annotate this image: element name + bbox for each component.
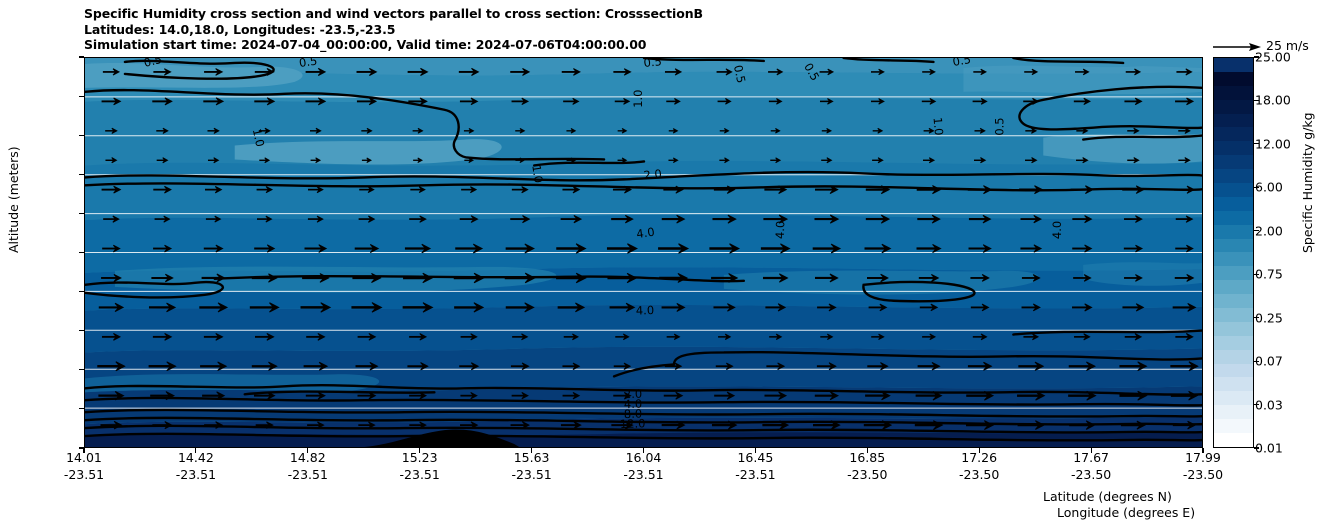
x-axis-tick: 14.01-23.51 bbox=[24, 449, 144, 483]
x-axis-tick-mark bbox=[755, 448, 756, 453]
colorbar-segment bbox=[1214, 183, 1253, 197]
colorbar-segment bbox=[1214, 211, 1253, 225]
colorbar-tick-mark bbox=[1254, 447, 1259, 448]
colorbar-segment bbox=[1214, 266, 1253, 280]
x-axis-tick: 16.45-23.51 bbox=[695, 449, 815, 483]
contour-label: 1.0 bbox=[930, 117, 946, 136]
x-axis-tick: 15.63-23.51 bbox=[472, 449, 592, 483]
y-axis-tick-mark bbox=[79, 56, 84, 57]
colorbar-tick-mark bbox=[1254, 187, 1259, 188]
colorbar-tick-label: 12.00 bbox=[1255, 136, 1291, 151]
x-axis-label-longitude: Longitude (degrees E) bbox=[1057, 505, 1195, 520]
y-axis-tick-mark bbox=[79, 369, 84, 370]
y-axis-label: Altitude (meters) bbox=[6, 146, 21, 253]
colorbar-segment bbox=[1214, 350, 1253, 364]
colorbar-segment bbox=[1214, 86, 1253, 100]
colorbar-segment bbox=[1214, 391, 1253, 405]
colorbar-tick-label: 6.00 bbox=[1255, 180, 1283, 195]
colorbar-segment bbox=[1214, 364, 1253, 378]
x-axis-tick-longitude: -23.50 bbox=[1143, 466, 1263, 483]
x-axis-tick-mark bbox=[979, 448, 980, 453]
figure-title: Specific Humidity cross section and wind… bbox=[84, 6, 1204, 53]
x-axis-tick-mark bbox=[531, 448, 532, 453]
colorbar-tick-label: 0.75 bbox=[1255, 267, 1283, 282]
colorbar-label: Specific Humidity g/kg bbox=[1300, 112, 1315, 253]
contour-label: 4.0 bbox=[636, 303, 655, 318]
x-axis-tick-longitude: -23.51 bbox=[360, 466, 480, 483]
x-axis-tick-longitude: -23.51 bbox=[136, 466, 256, 483]
colorbar-segment bbox=[1214, 294, 1253, 308]
colorbar-segment bbox=[1214, 72, 1253, 86]
x-axis-tick: 16.85-23.50 bbox=[807, 449, 927, 483]
x-axis-tick-longitude: -23.51 bbox=[472, 466, 592, 483]
contour-label: 0.5 bbox=[992, 117, 1006, 135]
x-axis-tick-longitude: -23.51 bbox=[695, 466, 815, 483]
x-axis-label-latitude: Latitude (degrees N) bbox=[1043, 489, 1172, 504]
colorbar-tick-mark bbox=[1254, 56, 1259, 57]
x-axis-tick-mark bbox=[419, 448, 420, 453]
x-axis-tick-longitude: -23.51 bbox=[248, 466, 368, 483]
x-axis-tick: 14.42-23.51 bbox=[136, 449, 256, 483]
colorbar-segment bbox=[1214, 239, 1253, 253]
colorbar-segment bbox=[1214, 169, 1253, 183]
y-axis-tick-mark bbox=[79, 291, 84, 292]
colorbar-segment bbox=[1214, 336, 1253, 350]
colorbar-tick-mark bbox=[1254, 317, 1259, 318]
contour-label: 4.0 bbox=[773, 221, 788, 240]
colorbar-tick-mark bbox=[1254, 361, 1259, 362]
y-axis-tick-mark bbox=[79, 408, 84, 409]
x-axis-tick: 16.04-23.51 bbox=[584, 449, 704, 483]
colorbar-tick-label: 0.07 bbox=[1255, 354, 1283, 369]
x-axis-tick: 17.26-23.50 bbox=[919, 449, 1039, 483]
colorbar-segment bbox=[1214, 141, 1253, 155]
x-axis-tick: 14.82-23.51 bbox=[248, 449, 368, 483]
colorbar-tick-label: 0.03 bbox=[1255, 397, 1283, 412]
colorbar-segment bbox=[1214, 58, 1253, 72]
colorbar-segment bbox=[1214, 377, 1253, 391]
contour-label: 4.0 bbox=[1050, 221, 1064, 239]
colorbar-tick-label: 2.00 bbox=[1255, 223, 1283, 238]
contour-label: 0.5 bbox=[643, 58, 663, 70]
contour-label: 2.0 bbox=[643, 167, 663, 183]
colorbar-segment bbox=[1214, 308, 1253, 322]
colorbar-tick-label: 18.00 bbox=[1255, 93, 1291, 108]
colorbar-tick-mark bbox=[1254, 230, 1259, 231]
colorbar-segment bbox=[1214, 405, 1253, 419]
colorbar-segment bbox=[1214, 419, 1253, 433]
x-axis-tick-mark bbox=[83, 448, 84, 453]
colorbar-tick-label: 25.00 bbox=[1255, 50, 1291, 65]
x-axis-tick-mark bbox=[1202, 448, 1203, 453]
colorbar-tick-mark bbox=[1254, 404, 1259, 405]
x-axis-tick-longitude: -23.51 bbox=[24, 466, 144, 483]
colorbar-segment bbox=[1214, 197, 1253, 211]
plot-area[interactable]: 0.5 0.5 0.5 0.5 0.5 0.5 1.0 1.0 1.0 1.0 … bbox=[84, 57, 1203, 448]
x-axis-tick: 17.99-23.50 bbox=[1143, 449, 1263, 483]
colorbar-segment bbox=[1214, 322, 1253, 336]
colorbar-segment bbox=[1214, 114, 1253, 128]
x-axis-tick-mark bbox=[867, 448, 868, 453]
y-axis-tick-mark bbox=[79, 252, 84, 253]
colorbar-tick-mark bbox=[1254, 143, 1259, 144]
colorbar-tick-label: 0.01 bbox=[1255, 441, 1283, 456]
x-axis-tick-mark bbox=[1091, 448, 1092, 453]
title-line-2: Latitudes: 14.0,18.0, Longitudes: -23.5,… bbox=[84, 22, 1204, 38]
colorbar-tick-mark bbox=[1254, 274, 1259, 275]
colorbar-segment bbox=[1214, 155, 1253, 169]
figure-root: Specific Humidity cross section and wind… bbox=[0, 0, 1326, 526]
colorbar-tick-label: 0.25 bbox=[1255, 310, 1283, 325]
colorbar-tick-mark bbox=[1254, 100, 1259, 101]
x-axis-tick-mark bbox=[307, 448, 308, 453]
colorbar[interactable] bbox=[1213, 57, 1254, 448]
x-axis-tick: 17.67-23.50 bbox=[1031, 449, 1151, 483]
x-axis-tick-longitude: -23.51 bbox=[584, 466, 704, 483]
title-line-1: Specific Humidity cross section and wind… bbox=[84, 6, 1204, 22]
x-axis-tick: 15.23-23.51 bbox=[360, 449, 480, 483]
colorbar-segment bbox=[1214, 225, 1253, 239]
y-axis-tick-mark bbox=[79, 96, 84, 97]
colorbar-segment bbox=[1214, 252, 1253, 266]
contour-label: 1.0 bbox=[631, 90, 645, 108]
x-axis-tick-mark bbox=[643, 448, 644, 453]
x-axis-tick-longitude: -23.50 bbox=[1031, 466, 1151, 483]
humidity-cross-section: 0.5 0.5 0.5 0.5 0.5 0.5 1.0 1.0 1.0 1.0 … bbox=[85, 58, 1202, 447]
contour-label: 4.0 bbox=[635, 225, 655, 241]
title-line-3: Simulation start time: 2024-07-04_00:00:… bbox=[84, 37, 1204, 53]
contour-label: 12.0 bbox=[620, 416, 646, 431]
y-axis-tick-mark bbox=[79, 330, 84, 331]
x-axis-tick-longitude: -23.50 bbox=[807, 466, 927, 483]
colorbar-segment bbox=[1214, 280, 1253, 294]
y-axis-tick-mark bbox=[79, 174, 84, 175]
y-axis-tick-mark bbox=[79, 213, 84, 214]
colorbar-segment bbox=[1214, 433, 1253, 447]
y-axis-tick-mark bbox=[79, 135, 84, 136]
x-axis-tick-mark bbox=[195, 448, 196, 453]
contour-label: 1.0 bbox=[529, 164, 545, 184]
colorbar-segment bbox=[1214, 127, 1253, 141]
x-axis-tick-longitude: -23.50 bbox=[919, 466, 1039, 483]
colorbar-segment bbox=[1214, 100, 1253, 114]
